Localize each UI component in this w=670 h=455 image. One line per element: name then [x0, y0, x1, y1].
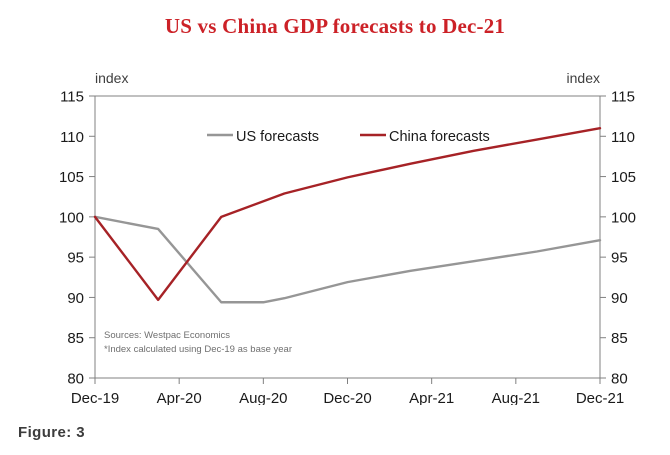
y-tick-label-left: 95 — [67, 250, 84, 267]
y-tick-label-right: 90 — [611, 290, 628, 307]
y-tick-label-right: 100 — [611, 209, 636, 226]
source-note-line: *Index calculated using Dec-19 as base y… — [104, 344, 292, 355]
x-tick-label: Apr-21 — [409, 390, 454, 405]
y-tick-label-right: 80 — [611, 371, 628, 388]
y-tick-label-left: 105 — [59, 169, 84, 186]
series-line-us-forecasts — [95, 217, 600, 302]
y-tick-label-left: 90 — [67, 290, 84, 307]
x-tick-label: Dec-19 — [71, 390, 119, 405]
gdp-forecast-line-chart: index index 8080858590909595100100105105… — [0, 55, 670, 405]
series-lines — [95, 128, 600, 302]
x-tick-label: Dec-20 — [323, 390, 371, 405]
y-tick-label-right: 105 — [611, 169, 636, 186]
source-notes: Sources: Westpac Economics*Index calcula… — [104, 330, 292, 355]
x-tick-label: Aug-21 — [492, 390, 540, 405]
x-tick-label: Dec-21 — [576, 390, 624, 405]
y-axis-unit-left: index — [95, 70, 128, 86]
y-tick-label-right: 115 — [611, 89, 635, 106]
x-tick-label: Apr-20 — [157, 390, 202, 405]
y-tick-label-left: 100 — [59, 209, 84, 226]
series-line-china-forecasts — [95, 128, 600, 300]
source-note-line: Sources: Westpac Economics — [104, 330, 230, 341]
legend-label-china-forecasts: China forecasts — [389, 129, 490, 145]
axis-ticks: 8080858590909595100100105105110110115115 — [59, 89, 636, 388]
y-tick-label-left: 80 — [67, 371, 84, 388]
y-tick-label-right: 95 — [611, 250, 628, 267]
y-axis-unit-right: index — [567, 70, 600, 86]
y-tick-label-left: 110 — [60, 129, 84, 146]
x-axis-labels: Dec-19Apr-20Aug-20Dec-20Apr-21Aug-21Dec-… — [71, 390, 624, 405]
chart-legend: US forecastsChina forecasts — [207, 129, 490, 145]
y-tick-label-right: 110 — [611, 129, 635, 146]
y-tick-label-left: 115 — [60, 89, 84, 106]
figure-caption: Figure: 3 — [18, 424, 85, 441]
y-tick-label-left: 85 — [67, 330, 84, 347]
y-tick-label-right: 85 — [611, 330, 628, 347]
x-tick-label: Aug-20 — [239, 390, 287, 405]
legend-label-us-forecasts: US forecasts — [236, 129, 319, 145]
page-title: US vs China GDP forecasts to Dec-21 — [0, 14, 670, 39]
chart-container: index index 8080858590909595100100105105… — [0, 55, 670, 405]
